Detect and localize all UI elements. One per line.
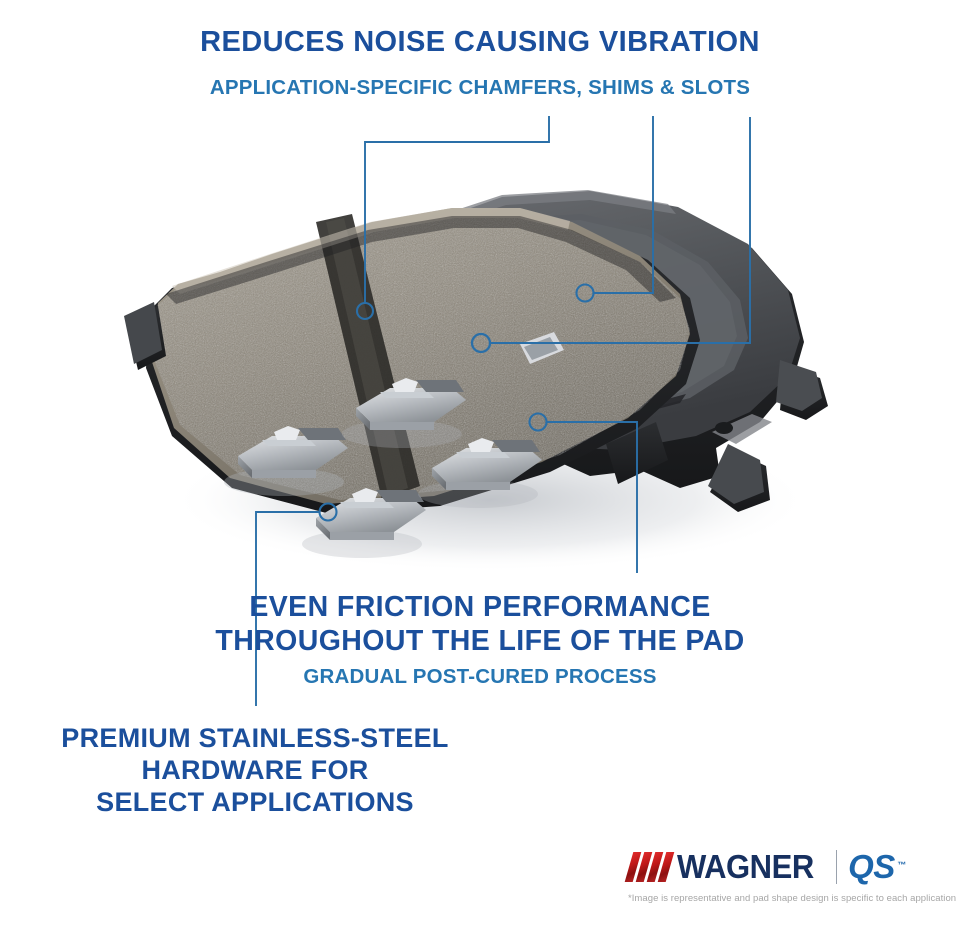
top-headline: REDUCES NOISE CAUSING VIBRATION — [0, 26, 960, 59]
middle-headline-line1: EVEN FRICTION PERFORMANCE — [0, 590, 960, 624]
bottom-headline: PREMIUM STAINLESS-STEEL HARDWARE FOR SEL… — [0, 722, 510, 818]
wagner-chevron-bars-icon — [628, 852, 674, 882]
brand-logo: WAGNER QS™ *Image is representative and … — [628, 846, 940, 908]
trademark-icon: ™ — [897, 848, 906, 882]
infographic-canvas: REDUCES NOISE CAUSING VIBRATION APPLICAT… — [0, 0, 960, 950]
logo-brand-text: WAGNER — [677, 850, 814, 884]
bottom-headline-line2: HARDWARE FOR — [0, 754, 510, 786]
middle-headline: EVEN FRICTION PERFORMANCE THROUGHOUT THE… — [0, 590, 960, 658]
bottom-headline-line3: SELECT APPLICATIONS — [0, 786, 510, 818]
logo-subbrand-text: QS™ — [848, 850, 895, 884]
middle-subhead: GRADUAL POST-CURED PROCESS — [0, 665, 960, 689]
logo-subbrand-label: QS — [848, 848, 895, 885]
logo-row: WAGNER QS™ — [628, 846, 940, 888]
product-photo — [120, 170, 840, 590]
bottom-headline-line1: PREMIUM STAINLESS-STEEL — [0, 722, 510, 754]
logo-disclaimer: *Image is representative and pad shape d… — [628, 893, 940, 904]
logo-divider — [836, 850, 838, 884]
middle-headline-line2: THROUGHOUT THE LIFE OF THE PAD — [0, 624, 960, 658]
top-subhead: APPLICATION-SPECIFIC CHAMFERS, SHIMS & S… — [0, 76, 960, 100]
